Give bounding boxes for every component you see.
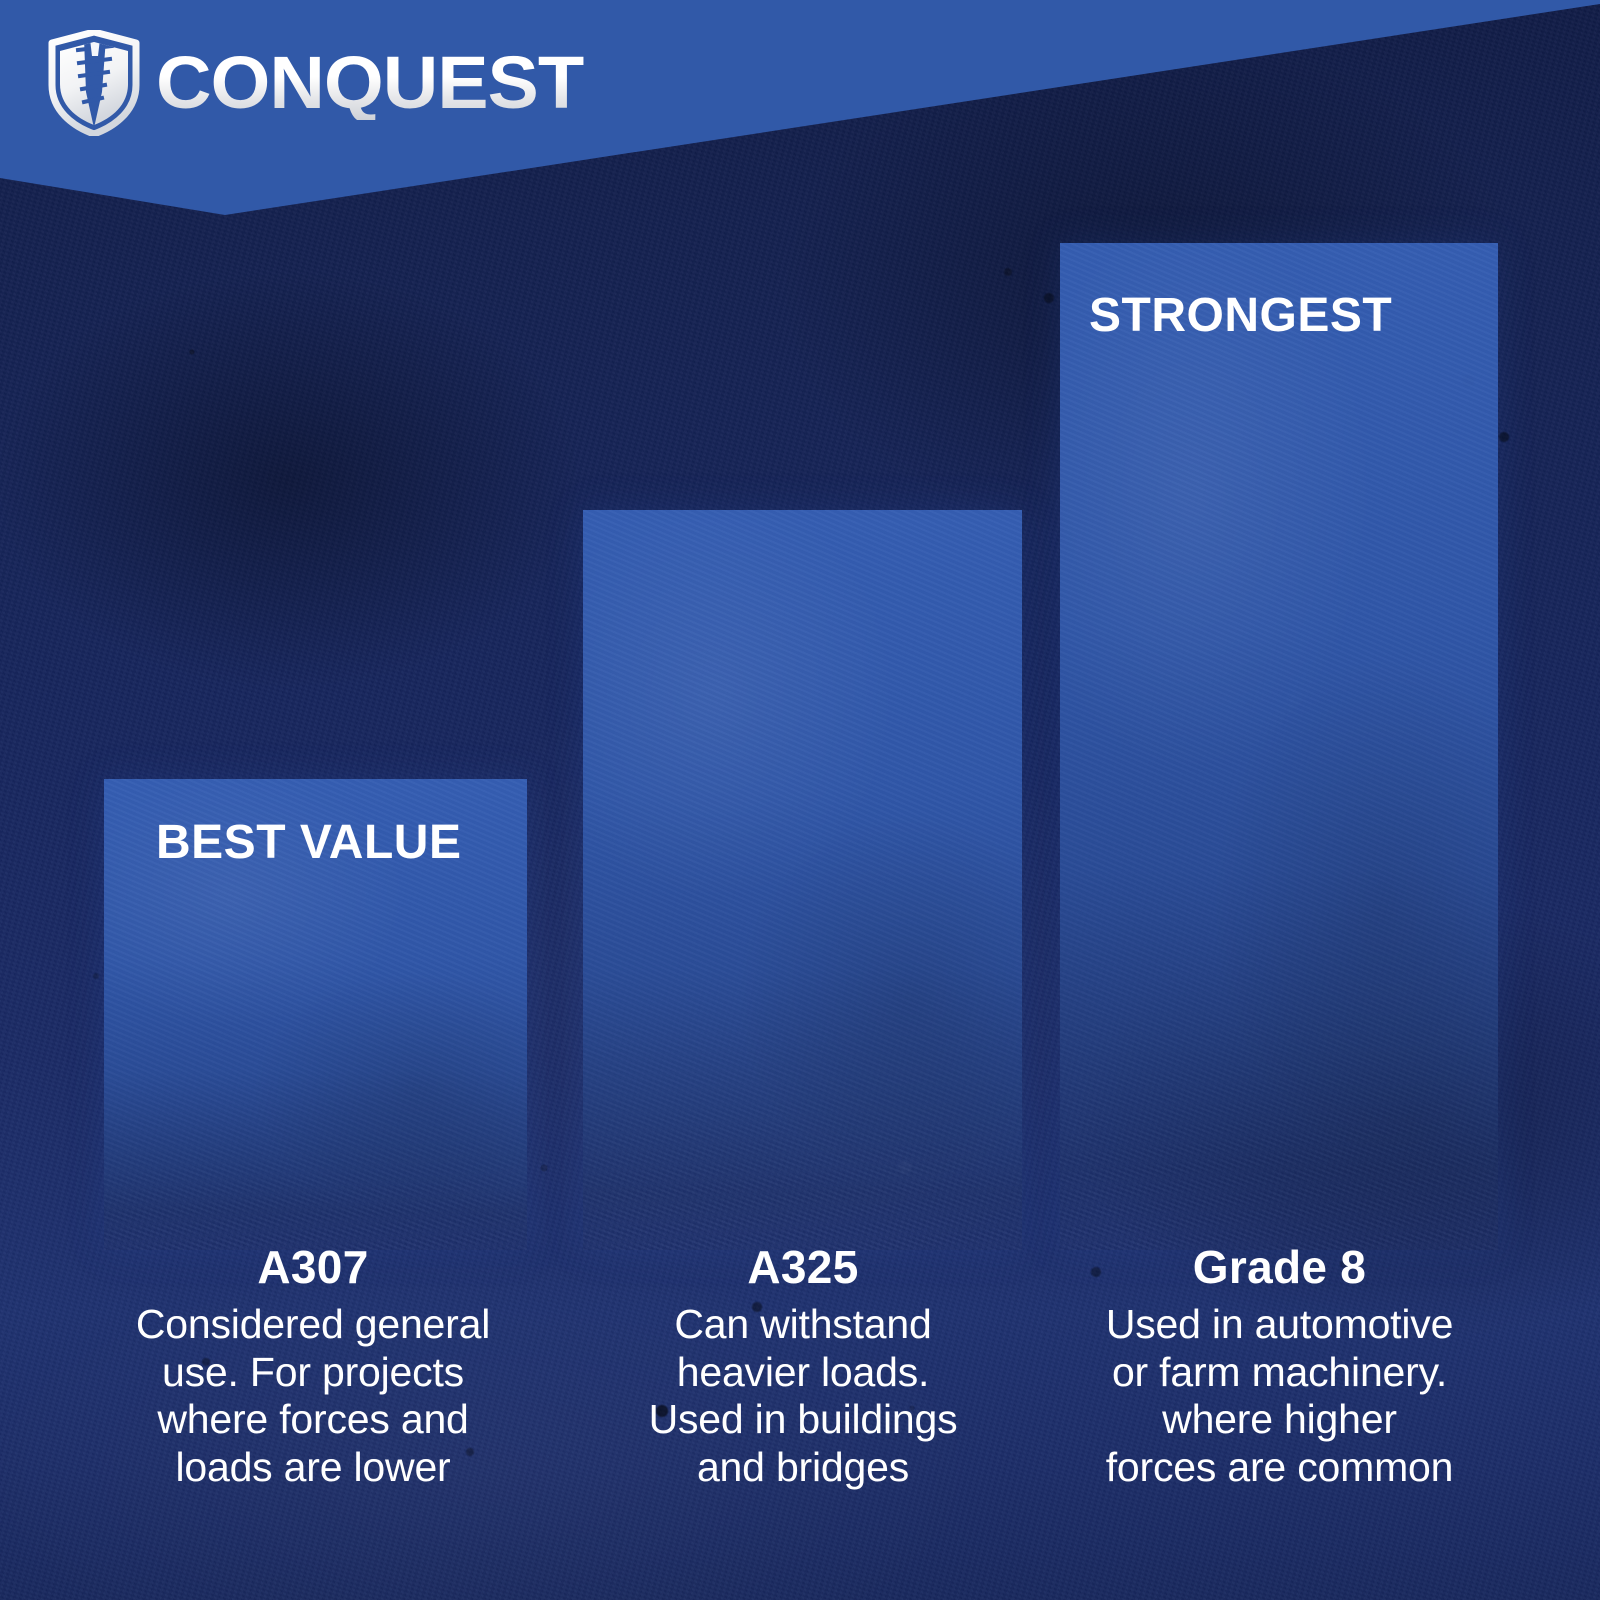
column-title-a325: A325	[578, 1243, 1028, 1291]
description-line: and bridges	[578, 1444, 1028, 1492]
description-line: Used in automotive	[1047, 1301, 1512, 1349]
description-line: or farm machinery.	[1047, 1349, 1512, 1397]
bar-tag-strongest: STRONGEST	[1089, 288, 1509, 343]
infographic-canvas: BEST VALUE STRONGEST A307 Considered gen…	[0, 0, 1600, 1600]
description-line: where forces and	[88, 1396, 538, 1444]
brand-lockup[interactable]: CONQUEST	[48, 30, 567, 136]
shield-screw-icon	[48, 30, 140, 136]
description-line: where higher	[1047, 1396, 1512, 1444]
bar-a325	[583, 510, 1022, 1250]
description-line: loads are lower	[88, 1444, 538, 1492]
column-description-a325: Can withstand heavier loads. Used in bui…	[578, 1301, 1028, 1491]
description-line: forces are common	[1047, 1444, 1512, 1492]
description-line: Considered general	[88, 1301, 538, 1349]
column-caption-a325: A325 Can withstand heavier loads. Used i…	[578, 1243, 1028, 1491]
column-caption-grade-8: Grade 8 Used in automotive or farm machi…	[1047, 1243, 1512, 1491]
column-title-grade-8: Grade 8	[1047, 1243, 1512, 1291]
column-description-grade-8: Used in automotive or farm machinery. wh…	[1047, 1301, 1512, 1491]
description-line: Used in buildings	[578, 1396, 1028, 1444]
column-title-a307: A307	[88, 1243, 538, 1291]
description-line: Can withstand	[578, 1301, 1028, 1349]
column-caption-a307: A307 Considered general use. For project…	[88, 1243, 538, 1491]
description-line: use. For projects	[88, 1349, 538, 1397]
description-line: heavier loads.	[578, 1349, 1028, 1397]
bar-grade-8	[1060, 243, 1498, 1250]
brand-wordmark: CONQUEST	[156, 46, 584, 120]
bar-tag-best-value: BEST VALUE	[156, 815, 536, 870]
column-description-a307: Considered general use. For projects whe…	[88, 1301, 538, 1491]
